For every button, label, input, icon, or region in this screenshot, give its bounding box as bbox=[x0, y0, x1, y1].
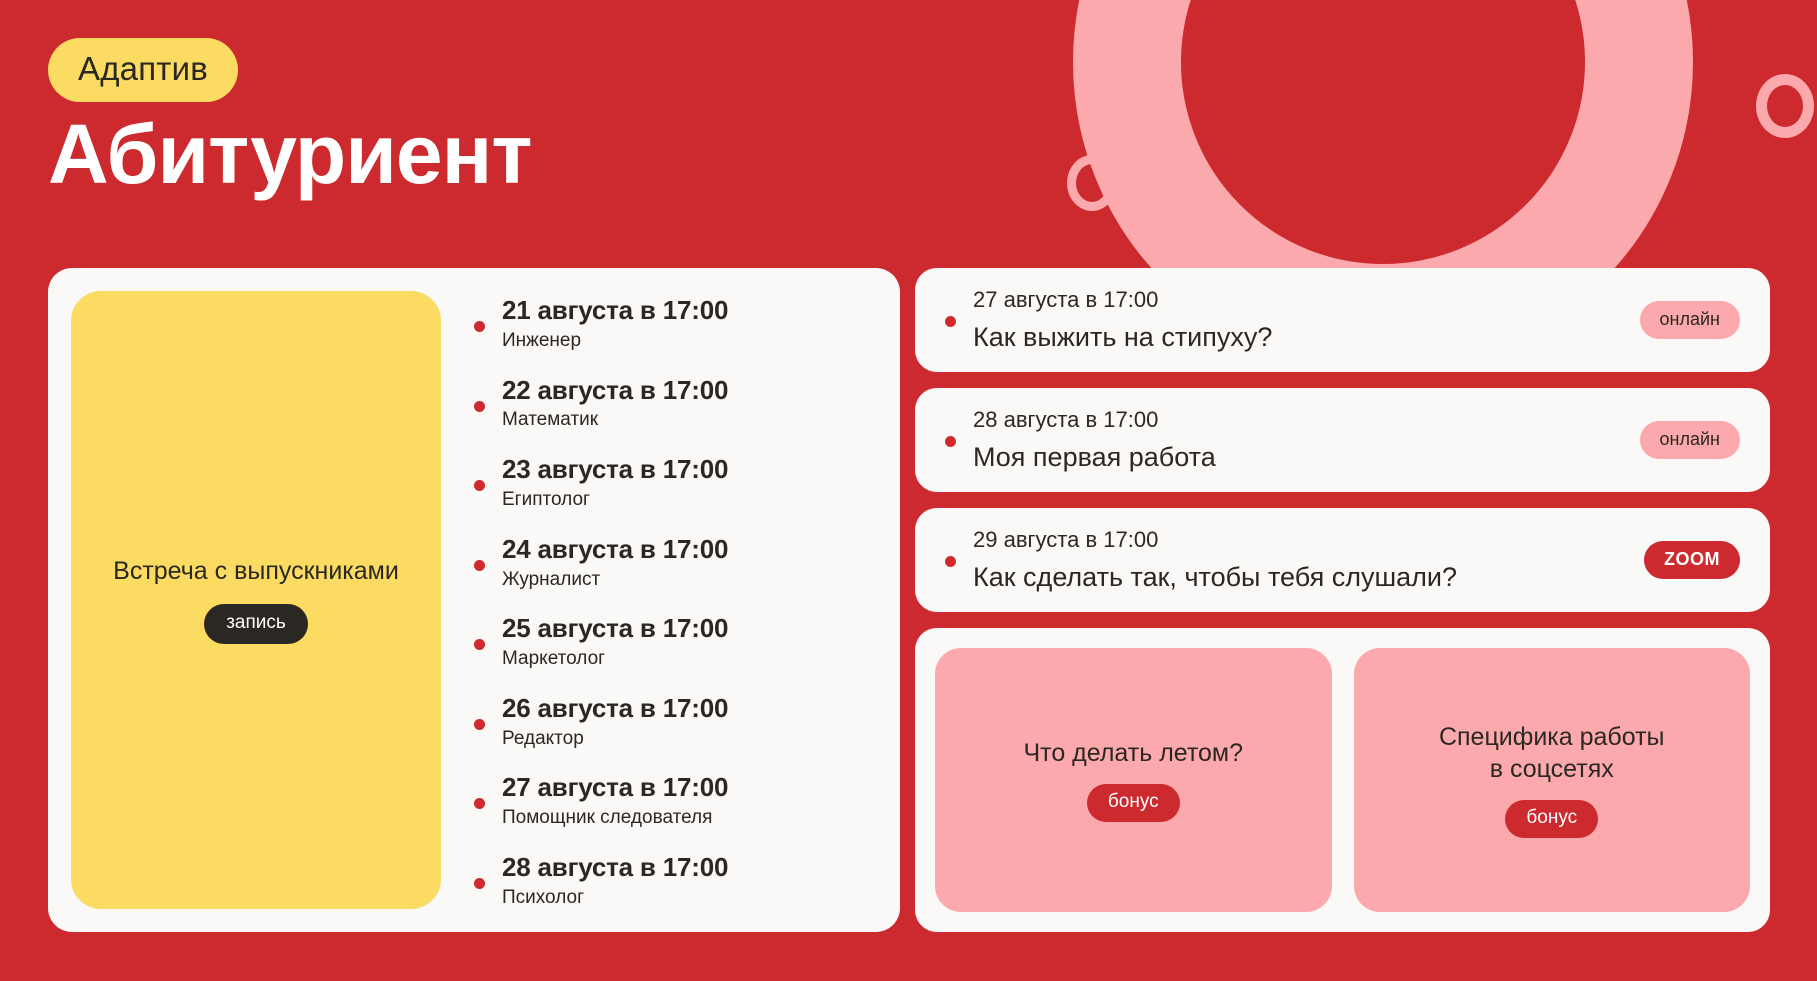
schedule-item-date: 28 августа в 17:00 bbox=[502, 853, 877, 883]
record-badge[interactable]: запись bbox=[204, 604, 308, 644]
schedule-item-role: Журналист bbox=[502, 568, 877, 591]
bullet-dot-icon bbox=[474, 560, 485, 571]
alumni-meetings-card: Встреча с выпускниками запись 21 августа… bbox=[48, 268, 900, 932]
small-ring-left-icon bbox=[1067, 155, 1117, 211]
schedule-item[interactable]: 25 августа в 17:00Маркетолог bbox=[474, 614, 877, 670]
bullet-dot-icon bbox=[474, 480, 485, 491]
schedule-item-role: Математик bbox=[502, 408, 877, 431]
format-badge[interactable]: ZOOM bbox=[1644, 541, 1740, 579]
bonus-badge[interactable]: бонус bbox=[1505, 800, 1598, 838]
schedule-item-role: Инженер bbox=[502, 329, 877, 352]
schedule-item-date: 21 августа в 17:00 bbox=[502, 296, 877, 326]
talk-title: Как выжить на стипуху? bbox=[973, 321, 1622, 353]
talk-date: 29 августа в 17:00 bbox=[973, 527, 1626, 553]
talks-list: 27 августа в 17:00Как выжить на стипуху?… bbox=[915, 268, 1770, 612]
bullet-dot-icon bbox=[474, 639, 485, 650]
schedule-item[interactable]: 22 августа в 17:00Математик bbox=[474, 376, 877, 432]
page-header: Адаптив Абитуриент bbox=[48, 38, 531, 196]
bullet-dot-icon bbox=[474, 401, 485, 412]
talk-card[interactable]: 29 августа в 17:00Как сделать так, чтобы… bbox=[915, 508, 1770, 612]
talk-title: Моя первая работа bbox=[973, 441, 1622, 473]
schedule-item[interactable]: 21 августа в 17:00Инженер bbox=[474, 296, 877, 352]
bullet-dot-icon bbox=[474, 798, 485, 809]
talk-card-body: 27 августа в 17:00Как выжить на стипуху? bbox=[945, 287, 1622, 354]
bullet-dot-icon bbox=[945, 436, 956, 447]
schedule-item-date: 24 августа в 17:00 bbox=[502, 535, 877, 565]
schedule-item[interactable]: 27 августа в 17:00Помощник следователя bbox=[474, 773, 877, 829]
bullet-dot-icon bbox=[945, 556, 956, 567]
schedule-item-role: Психолог bbox=[502, 886, 877, 909]
small-ring-right-icon bbox=[1756, 74, 1814, 138]
bonus-tiles: Что делать летом?бонусСпецифика работы в… bbox=[935, 648, 1750, 912]
format-badge[interactable]: онлайн bbox=[1640, 301, 1740, 339]
schedule-item[interactable]: 28 августа в 17:00Психолог bbox=[474, 853, 877, 909]
talk-date: 27 августа в 17:00 bbox=[973, 287, 1622, 313]
category-tag: Адаптив bbox=[48, 38, 238, 102]
featured-event-title: Встреча с выпускниками bbox=[103, 556, 409, 587]
format-badge[interactable]: онлайн bbox=[1640, 421, 1740, 459]
talk-card[interactable]: 27 августа в 17:00Как выжить на стипуху?… bbox=[915, 268, 1770, 372]
featured-event-panel[interactable]: Встреча с выпускниками запись bbox=[71, 291, 441, 909]
bonus-tile-title: Специфика работы в соцсетях bbox=[1425, 722, 1679, 785]
schedule-item[interactable]: 23 августа в 17:00Египтолог bbox=[474, 455, 877, 511]
bonus-section: Что делать летом?бонусСпецифика работы в… bbox=[915, 628, 1770, 932]
talk-date: 28 августа в 17:00 bbox=[973, 407, 1622, 433]
schedule-item-date: 25 августа в 17:00 bbox=[502, 614, 877, 644]
schedule-item-role: Помощник следователя bbox=[502, 806, 877, 829]
talk-title: Как сделать так, чтобы тебя слушали? bbox=[973, 561, 1626, 593]
schedule-item-role: Маркетолог bbox=[502, 647, 877, 670]
talks-column: 27 августа в 17:00Как выжить на стипуху?… bbox=[915, 268, 1770, 932]
bonus-tile[interactable]: Что делать летом?бонус bbox=[935, 648, 1332, 912]
bullet-dot-icon bbox=[945, 316, 956, 327]
schedule-item-role: Египтолог bbox=[502, 488, 877, 511]
bonus-badge[interactable]: бонус bbox=[1087, 784, 1180, 822]
schedule-item-date: 22 августа в 17:00 bbox=[502, 376, 877, 406]
talk-card-body: 29 августа в 17:00Как сделать так, чтобы… bbox=[945, 527, 1626, 594]
content-board: Встреча с выпускниками запись 21 августа… bbox=[0, 268, 1817, 932]
talk-card[interactable]: 28 августа в 17:00Моя первая работаонлай… bbox=[915, 388, 1770, 492]
bullet-dot-icon bbox=[474, 878, 485, 889]
schedule-item[interactable]: 24 августа в 17:00Журналист bbox=[474, 535, 877, 591]
schedule-list: 21 августа в 17:00Инженер22 августа в 17… bbox=[441, 291, 877, 909]
schedule-item-date: 26 августа в 17:00 bbox=[502, 694, 877, 724]
talk-card-body: 28 августа в 17:00Моя первая работа bbox=[945, 407, 1622, 474]
page-title: Абитуриент bbox=[48, 112, 531, 196]
bonus-tile-title: Что делать летом? bbox=[1009, 738, 1257, 769]
bullet-dot-icon bbox=[474, 719, 485, 730]
schedule-item-date: 23 августа в 17:00 bbox=[502, 455, 877, 485]
bonus-tile[interactable]: Специфика работы в соцсетяхбонус bbox=[1354, 648, 1751, 912]
schedule-item[interactable]: 26 августа в 17:00Редактор bbox=[474, 694, 877, 750]
schedule-item-date: 27 августа в 17:00 bbox=[502, 773, 877, 803]
bullet-dot-icon bbox=[474, 321, 485, 332]
schedule-item-role: Редактор bbox=[502, 727, 877, 750]
